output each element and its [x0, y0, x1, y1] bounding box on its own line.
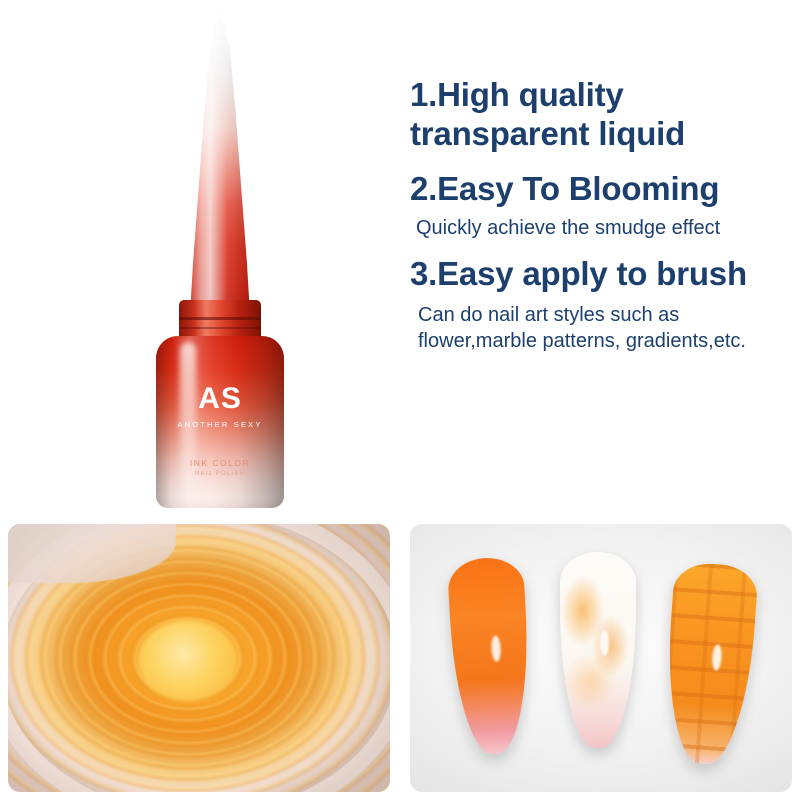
nail-polish-bottle: AS ANOTHER SEXY INK COLOR NAIL POLISH	[110, 0, 330, 520]
photo-vignette	[8, 524, 390, 792]
brand-initials: AS	[156, 384, 284, 414]
top-section: AS ANOTHER SEXY INK COLOR NAIL POLISH 1.…	[0, 0, 800, 520]
bottle-shine	[180, 342, 196, 492]
feature-list: 1.High quality transparent liquid 2.Easy…	[410, 76, 800, 354]
label-line-2: NAIL POLISH	[156, 471, 284, 477]
feature-2-heading: 2.Easy To Blooming	[410, 170, 800, 209]
feature-3-heading: 3.Easy apply to brush	[410, 255, 800, 294]
bottle-body: AS ANOTHER SEXY INK COLOR NAIL POLISH	[156, 336, 284, 508]
feature-item-2: 2.Easy To Blooming Quickly achieve the s…	[410, 170, 800, 241]
feature-item-3: 3.Easy apply to brush Can do nail art st…	[410, 255, 800, 354]
photo-nail-samples	[410, 524, 792, 792]
bottle-cap-highlight	[172, 8, 268, 326]
photo-ink-bloom	[8, 524, 390, 792]
label-line-1: INK COLOR	[156, 458, 284, 468]
feature-2-subtext: Quickly achieve the smudge effect	[410, 215, 800, 241]
feature-item-1: 1.High quality transparent liquid	[410, 76, 800, 154]
brand-name: ANOTHER SEXY	[156, 420, 284, 429]
feature-1-heading: 1.High quality transparent liquid	[410, 76, 800, 154]
feature-3-subtext: Can do nail art styles such as flower,ma…	[410, 302, 800, 354]
product-infographic: AS ANOTHER SEXY INK COLOR NAIL POLISH 1.…	[0, 0, 800, 800]
